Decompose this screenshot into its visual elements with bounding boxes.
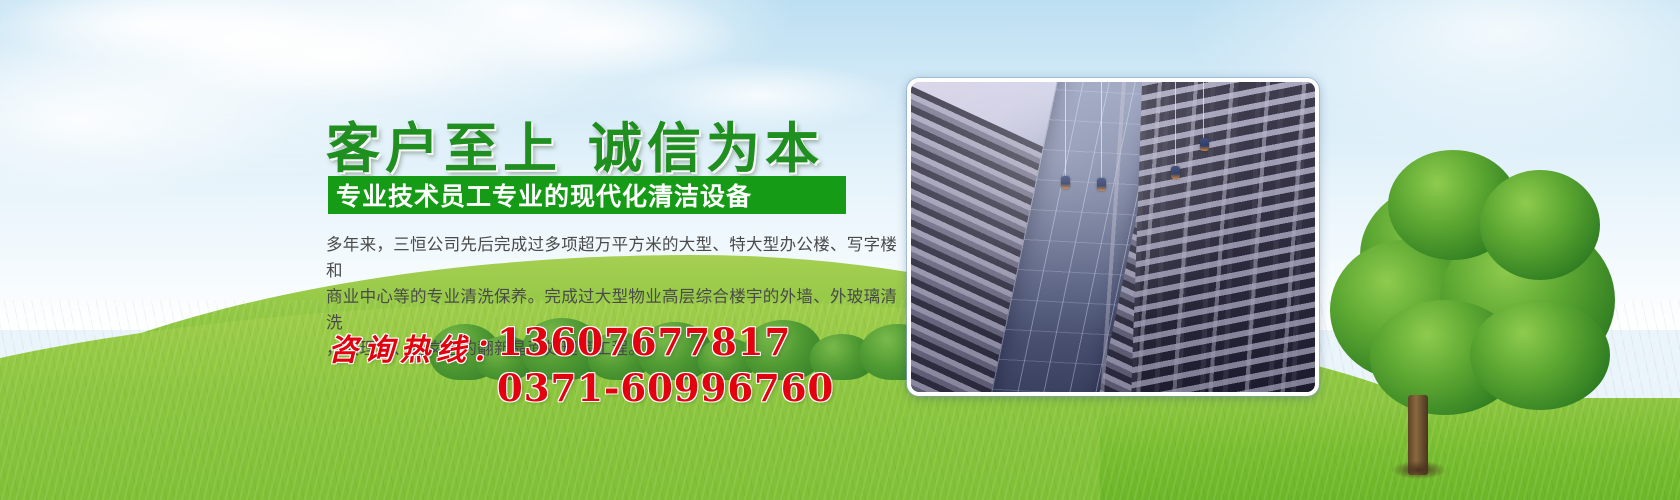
window-cleaner-3: [1171, 166, 1180, 179]
building-photo-card: [907, 78, 1319, 396]
page-title: 客户至上诚信为本: [326, 104, 824, 183]
building-photo: [911, 82, 1315, 392]
subtitle-text: 专业技术员工专业的现代化清洁设备: [328, 177, 752, 213]
subtitle-banner-bar: 专业技术员工专业的现代化清洁设备: [328, 176, 846, 214]
window-cleaner-1: [1061, 176, 1070, 189]
window-cleaner-4: [1200, 138, 1209, 151]
foreground-tree: [1330, 150, 1680, 480]
promo-banner: 客户至上诚信为本 专业技术员工专业的现代化清洁设备 多年来，三恒公司先后完成过多…: [0, 0, 1680, 500]
headline-part-1: 客户至上: [326, 116, 562, 180]
rope-left: [1065, 82, 1066, 180]
tree-trunk: [1408, 395, 1428, 475]
photo-vertical-piers: [1099, 82, 1315, 392]
rope-right: [1175, 82, 1176, 170]
hotline-mobile-number[interactable]: 13607677817: [497, 320, 791, 364]
hotline-label: 咨询热线：: [328, 325, 508, 369]
description-line-1: 多年来，三恒公司先后完成过多项超万平方米的大型、特大型办公楼、写字楼和: [326, 232, 902, 284]
hotline-landline-number[interactable]: 0371-60996760: [497, 366, 834, 410]
rope-far: [1203, 82, 1204, 142]
rope-mid: [1101, 82, 1102, 182]
window-cleaner-2: [1097, 178, 1106, 191]
headline-part-2: 诚信为本: [588, 116, 824, 180]
